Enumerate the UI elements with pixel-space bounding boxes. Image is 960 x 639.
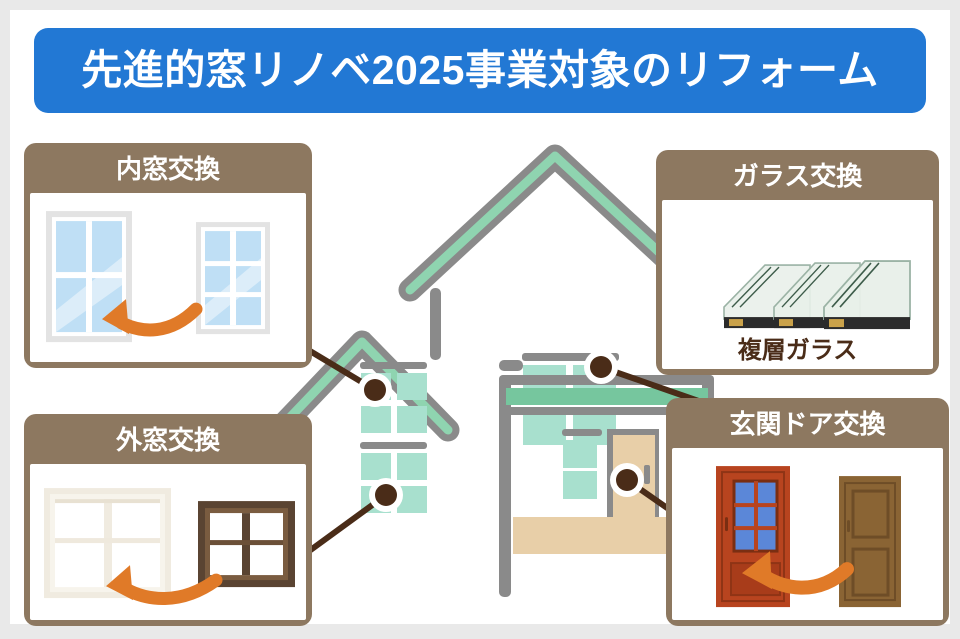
card-glass-caption: 複層ガラス [662,330,933,365]
card-glass-body: 複層ガラス [662,200,933,369]
card-inner-window-title: 内窓交換 [30,149,306,193]
card-glass-title: ガラス交換 [662,156,933,200]
card-door-body [672,448,943,620]
wall-post-upper [430,288,441,360]
title-banner: 先進的窓リノベ2025事業対象のリフォーム [34,28,926,113]
card-door[interactable]: 玄関ドア交換 [666,398,949,626]
card-outer-window-title: 外窓交換 [30,420,306,464]
double-glazing-panels-icon [724,261,910,329]
entrance-door-handle [644,465,650,484]
card-glass[interactable]: ガラス交換 [656,150,939,375]
outer-window-new [44,488,171,598]
card-inner-window-body [30,193,306,362]
inner-window-existing [196,222,270,334]
outer-window-old [198,501,295,587]
card-inner-window[interactable]: 内窓交換 [24,143,312,368]
card-door-title: 玄関ドア交換 [672,404,943,448]
entrance-door-old [839,476,901,607]
card-outer-window[interactable]: 外窓交換 [24,414,312,626]
page-title: 先進的窓リノベ2025事業対象のリフォーム [81,50,878,91]
card-outer-window-body [30,464,306,620]
infographic-canvas: 先進的窓リノベ2025事業対象のリフォーム [10,10,950,624]
